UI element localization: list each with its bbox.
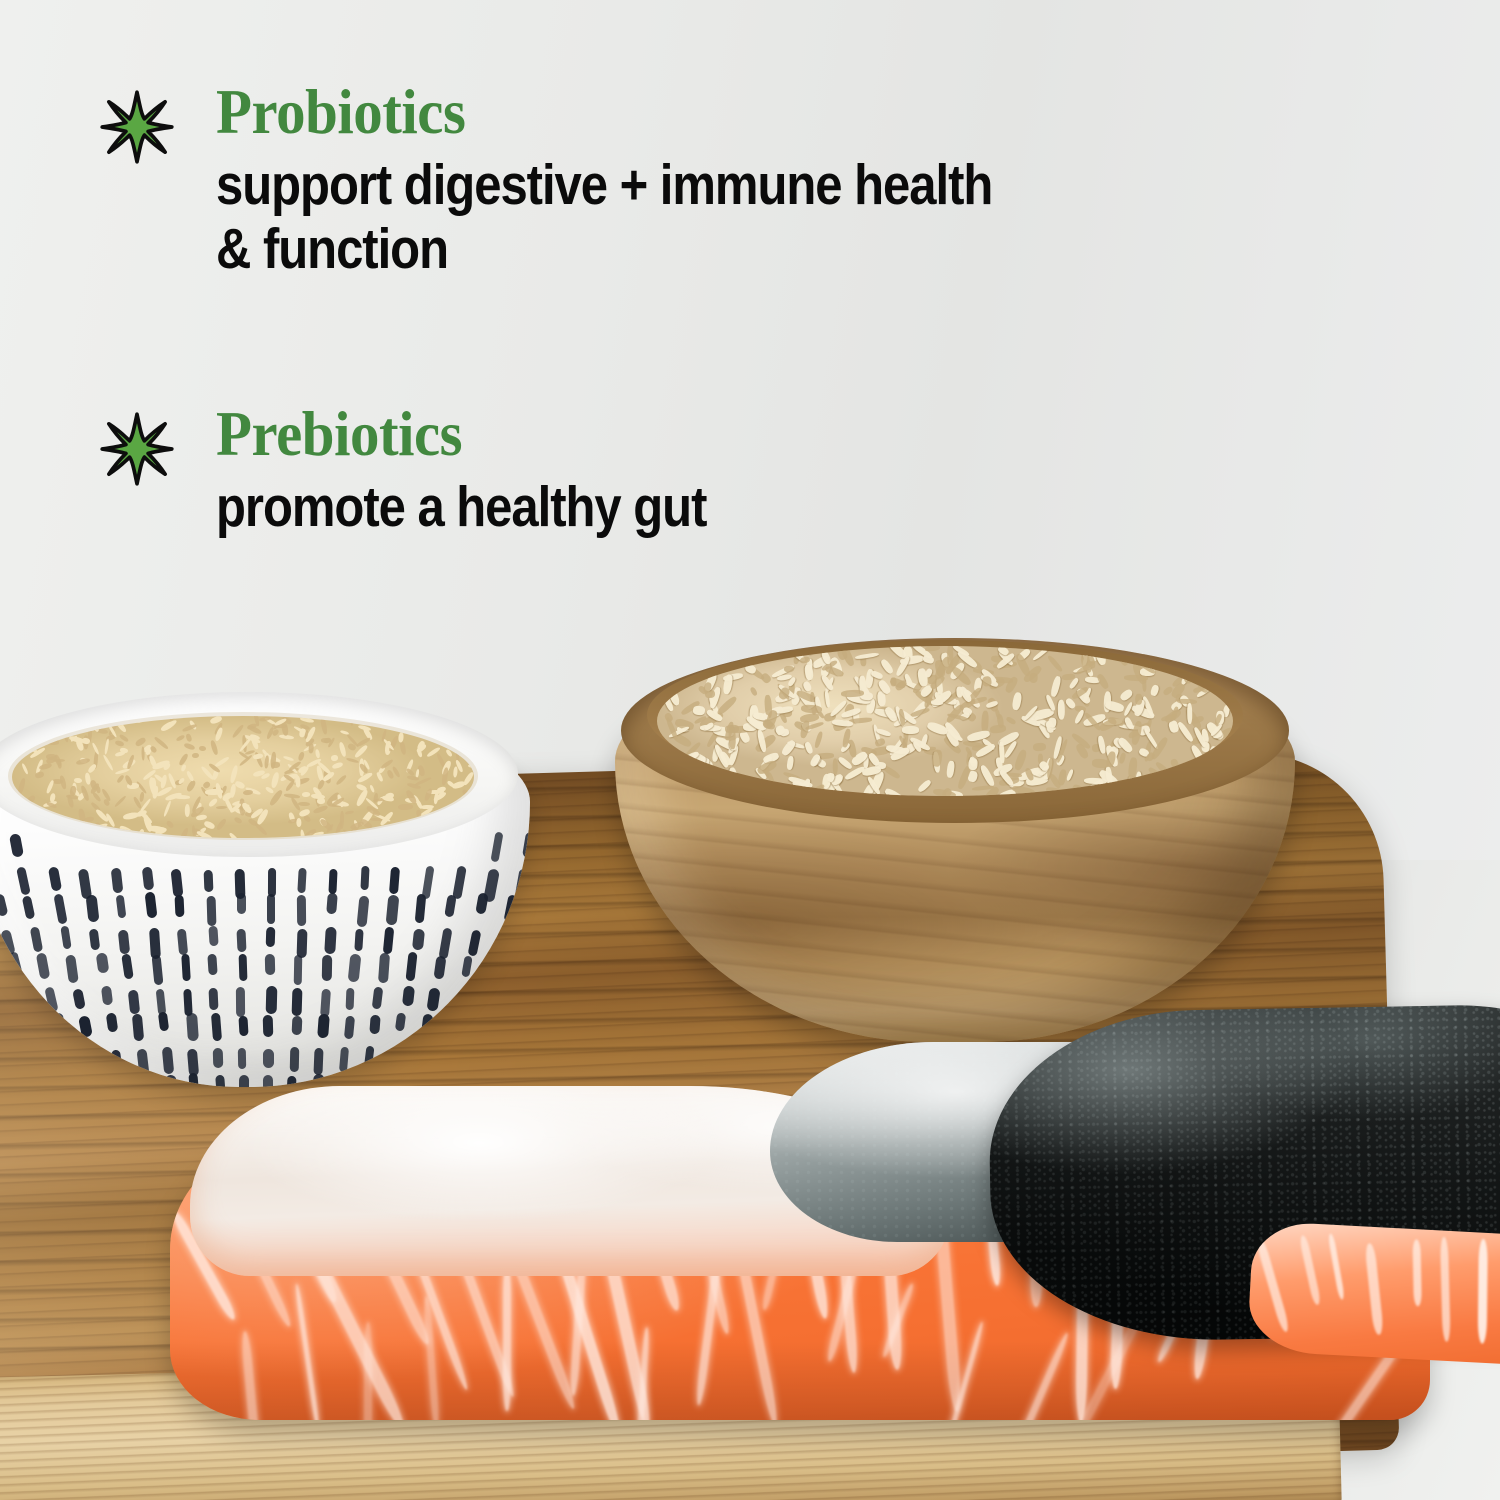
- bullet-probiotics: Probiotics support digestive + immune he…: [100, 80, 1119, 282]
- description-line: support digestive + immune health: [216, 154, 992, 218]
- eight-point-star-icon: [100, 80, 186, 164]
- eight-point-star-icon: [100, 402, 186, 486]
- bullet-prebiotics: Prebiotics promote a healthy gut: [100, 402, 786, 540]
- eight-point-star-glyph: [100, 90, 174, 164]
- bullet-probiotics-text: Probiotics support digestive + immune he…: [186, 80, 1119, 282]
- bullet-prebiotics-text: Prebiotics promote a healthy gut: [186, 402, 786, 540]
- bullet-prebiotics-description: promote a healthy gut: [216, 476, 706, 540]
- eight-point-star-glyph: [100, 412, 174, 486]
- bullet-probiotics-heading: Probiotics: [216, 80, 1046, 144]
- bullet-prebiotics-heading: Prebiotics: [216, 402, 741, 466]
- screenshot-stage: Probiotics support digestive + immune he…: [0, 0, 1500, 1500]
- description-line: & function: [216, 218, 992, 282]
- text-overlay: Probiotics support digestive + immune he…: [0, 0, 1500, 1500]
- description-line: promote a healthy gut: [216, 476, 706, 540]
- bullet-probiotics-description: support digestive + immune health & func…: [216, 154, 992, 282]
